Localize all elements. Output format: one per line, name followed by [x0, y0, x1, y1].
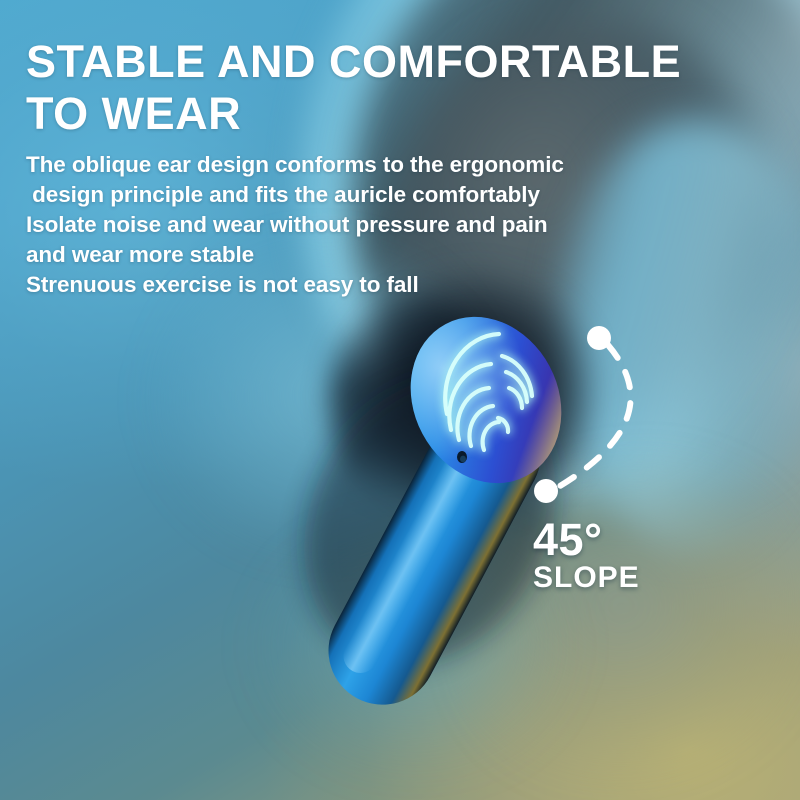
slope-angle-value: 45°	[533, 518, 640, 562]
description-line: Strenuous exercise is not easy to fall	[26, 270, 666, 300]
microphone-hole	[457, 451, 467, 463]
description-line: Isolate noise and wear without pressure …	[26, 210, 666, 240]
ear-backlight	[250, 520, 580, 800]
product-banner: STABLE AND COMFORTABLE TO WEAR The obliq…	[0, 0, 800, 800]
page-title: STABLE AND COMFORTABLE TO WEAR	[26, 36, 726, 140]
description-text: The oblique ear design conforms to the e…	[26, 150, 666, 300]
ear-canal-shadow	[352, 268, 602, 518]
slope-callout: 45° SLOPE	[533, 518, 640, 594]
earbud-stem	[244, 348, 560, 727]
ear-crease-shadow	[330, 296, 490, 506]
dashed-angle-arc	[555, 345, 631, 489]
slope-label: SLOPE	[533, 562, 640, 594]
description-line: design principle and fits the auricle co…	[26, 180, 666, 210]
description-line: The oblique ear design conforms to the e…	[26, 150, 666, 180]
description-line: and wear more stable	[26, 240, 666, 270]
angle-indicator	[534, 326, 631, 503]
earbud-head	[382, 290, 590, 509]
angle-marker-dot-lower	[534, 479, 558, 503]
fingerprint-icon	[445, 334, 532, 450]
angle-marker-dot-upper	[587, 326, 611, 350]
